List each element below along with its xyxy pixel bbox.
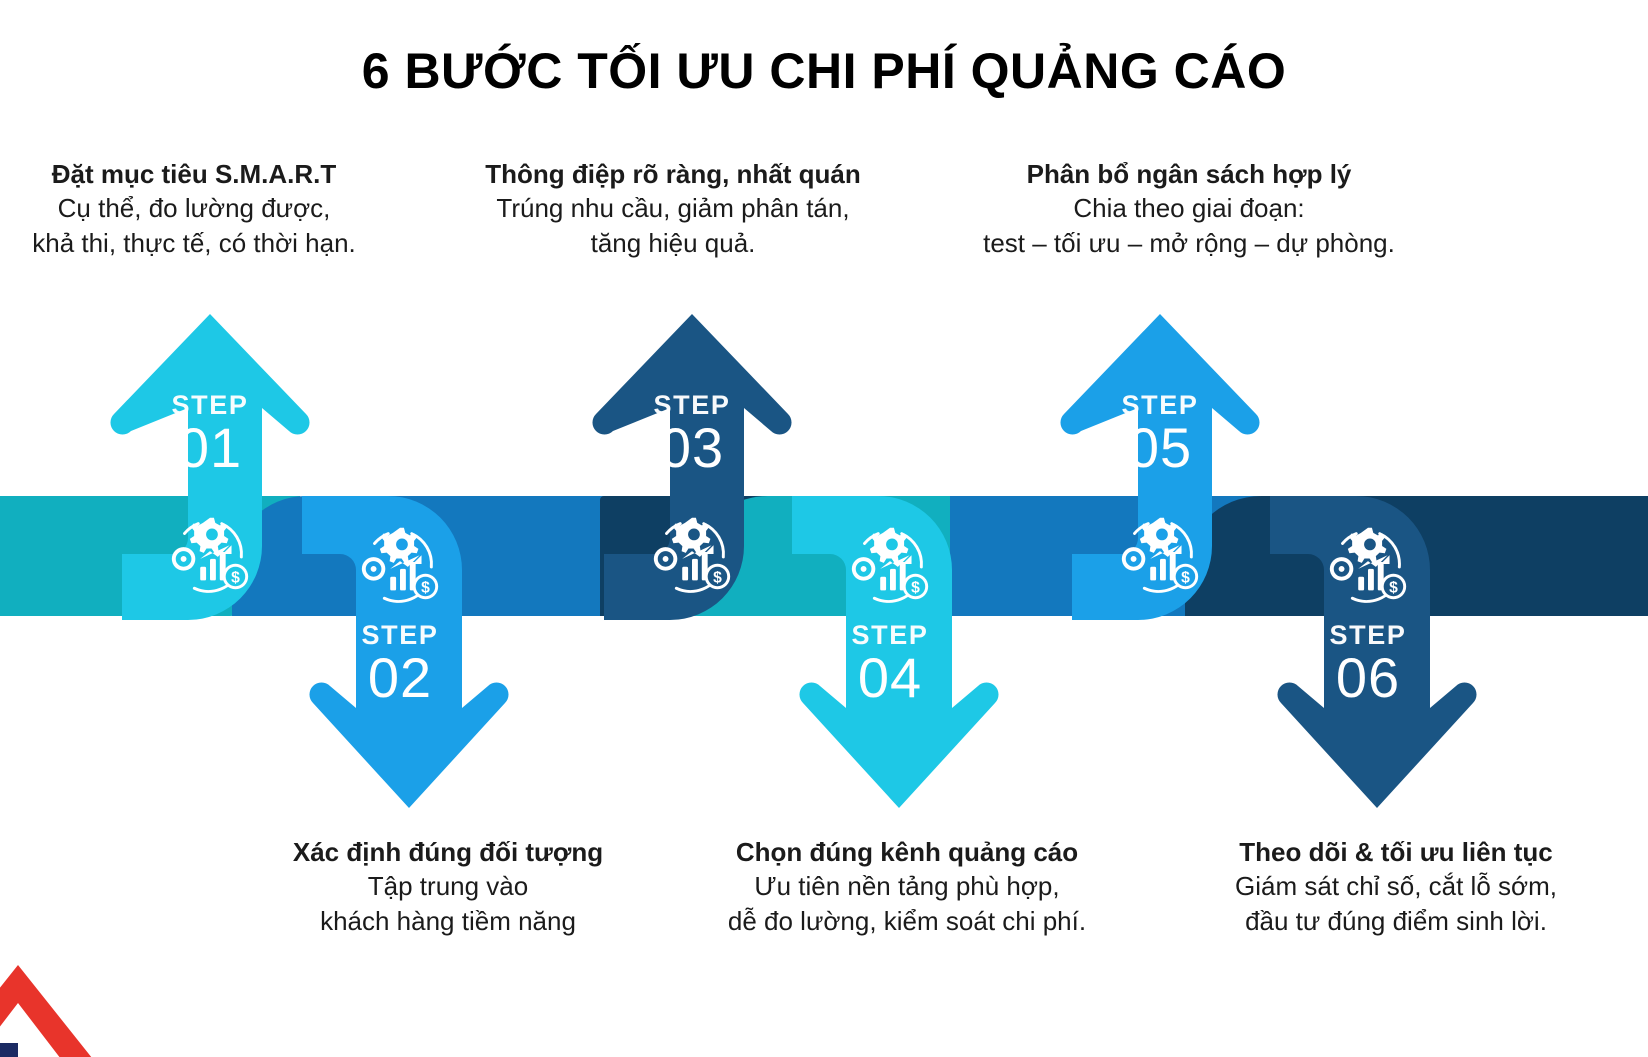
- arrow-step-06[interactable]: $ STEP 06: [1268, 496, 1468, 816]
- caption-step-02-line-1: Tập trung vào: [228, 869, 668, 904]
- caption-step-04: Chọn đúng kênh quảng cáo Ưu tiên nền tản…: [672, 836, 1142, 938]
- brand-logo: [0, 951, 96, 1057]
- caption-step-03-line-2: tăng hiệu quả.: [438, 226, 908, 261]
- caption-step-05-heading: Phân bổ ngân sách hợp lý: [920, 158, 1458, 191]
- caption-step-04-line-2: dễ đo lường, kiểm soát chi phí.: [672, 904, 1142, 939]
- caption-step-05-line-2: test – tối ưu – mở rộng – dự phòng.: [920, 226, 1458, 261]
- caption-step-06-line-2: đầu tư đúng điểm sinh lời.: [1136, 904, 1648, 939]
- caption-step-01-heading: Đặt mục tiêu S.M.A.R.T: [0, 158, 420, 191]
- arrow-step-03[interactable]: STEP 03: [592, 310, 792, 620]
- caption-step-03-heading: Thông điệp rõ ràng, nhất quán: [438, 158, 908, 191]
- caption-step-02: Xác định đúng đối tượng Tập trung vào kh…: [228, 836, 668, 938]
- caption-step-03: Thông điệp rõ ràng, nhất quán Trúng nhu …: [438, 158, 908, 260]
- caption-step-04-line-1: Ưu tiên nền tảng phù hợp,: [672, 869, 1142, 904]
- caption-step-06: Theo dõi & tối ưu liên tục Giám sát chỉ …: [1136, 836, 1648, 938]
- caption-step-06-heading: Theo dõi & tối ưu liên tục: [1136, 836, 1648, 869]
- caption-step-02-heading: Xác định đúng đối tượng: [228, 836, 668, 869]
- arrow-step-04[interactable]: $ STEP 04: [790, 496, 990, 816]
- caption-step-02-line-2: khách hàng tiềm năng: [228, 904, 668, 939]
- caption-step-05-line-1: Chia theo giai đoạn:: [920, 191, 1458, 226]
- caption-step-05: Phân bổ ngân sách hợp lý Chia theo giai …: [920, 158, 1458, 260]
- caption-step-01-line-2: khả thi, thực tế, có thời hạn.: [0, 226, 420, 261]
- page-title: 6 BƯỚC TỐI ƯU CHI PHÍ QUẢNG CÁO: [0, 42, 1648, 100]
- caption-step-01: Đặt mục tiêu S.M.A.R.T Cụ thể, đo lường …: [0, 158, 420, 260]
- caption-step-03-line-1: Trúng nhu cầu, giảm phân tán,: [438, 191, 908, 226]
- caption-step-04-heading: Chọn đúng kênh quảng cáo: [672, 836, 1142, 869]
- infographic-canvas: 6 BƯỚC TỐI ƯU CHI PHÍ QUẢNG CÁO: [0, 0, 1648, 1057]
- arrow-step-01[interactable]: STEP 01: [110, 310, 310, 620]
- caption-step-01-line-1: Cụ thể, đo lường được,: [0, 191, 420, 226]
- arrow-step-02[interactable]: $ STEP 02: [300, 496, 500, 816]
- arrow-step-05[interactable]: STEP 05: [1060, 310, 1260, 620]
- caption-step-06-line-1: Giám sát chỉ số, cắt lỗ sớm,: [1136, 869, 1648, 904]
